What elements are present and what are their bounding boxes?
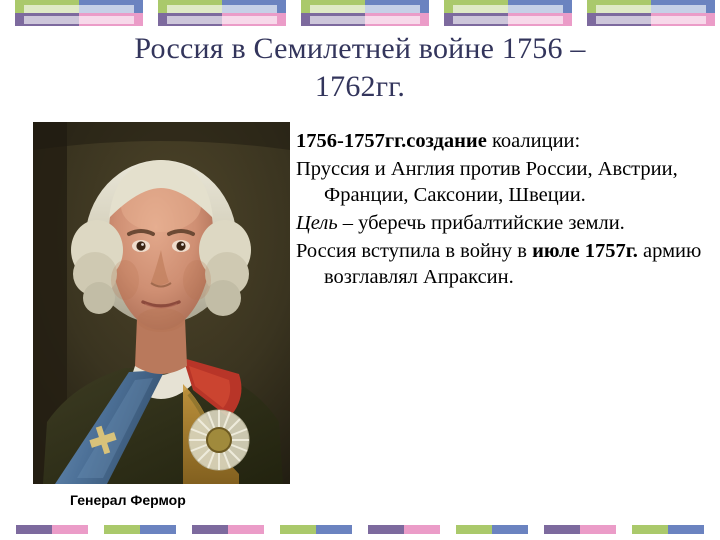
paragraph-alliances: Пруссия и Англия против России, Австрии,… (296, 156, 706, 208)
decor-dash-green-blue (280, 525, 352, 534)
decor-dash-green-blue (456, 525, 528, 534)
portrait-caption: Генерал Фермор (70, 492, 186, 508)
decor-tile (587, 0, 715, 26)
italic-goal-label: Цель (296, 212, 338, 234)
decor-dash-green-blue (632, 525, 704, 534)
goal-rest: – уберечь прибалтийские земли. (338, 212, 625, 234)
decor-tile (158, 0, 286, 26)
portrait-artwork (33, 122, 290, 484)
decor-tile (15, 0, 143, 26)
decorative-band-top (0, 0, 720, 30)
decor-inner-bar (167, 16, 277, 24)
bold-date-july-1757: июле 1757г. (532, 240, 638, 262)
entry-lead: Россия вступила в войну в (296, 240, 532, 262)
paragraph-coalition: 1756-1757гг.создание коалиции: (296, 128, 706, 154)
decor-tile (444, 0, 572, 26)
paragraph-entry: Россия вступила в войну в июле 1757г. ар… (296, 238, 706, 290)
decor-inner-bar (310, 5, 420, 13)
portrait-general-fermor (33, 122, 290, 484)
title-line-1: Россия в Семилетней войне 1756 – (28, 30, 692, 68)
paragraph-goal: Цель – уберечь прибалтийские земли. (296, 210, 706, 236)
decor-tile (301, 0, 429, 26)
decor-inner-bar (167, 5, 277, 13)
decor-inner-bar (24, 5, 134, 13)
decor-dash-green-blue (104, 525, 176, 534)
decor-inner-bar (596, 16, 706, 24)
decor-dash-purple-pink (544, 525, 616, 534)
decor-inner-bar (24, 16, 134, 24)
decorative-band-bottom (0, 525, 720, 534)
decor-inner-bar (453, 16, 563, 24)
slide: Россия в Семилетней войне 1756 – 1762гг. (0, 0, 720, 540)
bold-date-1756-1757: 1756-1757гг.создание (296, 130, 487, 152)
decor-inner-bar (310, 16, 420, 24)
coalition-rest: коалиции: (487, 130, 580, 152)
decor-dash-purple-pink (192, 525, 264, 534)
title-line-2: 1762гг. (28, 68, 692, 106)
decor-dash-purple-pink (368, 525, 440, 534)
slide-title: Россия в Семилетней войне 1756 – 1762гг. (28, 30, 692, 106)
decor-inner-bar (596, 5, 706, 13)
body-text-block: 1756-1757гг.создание коалиции: Пруссия и… (296, 128, 706, 292)
decor-dash-purple-pink (16, 525, 88, 534)
decor-inner-bar (453, 5, 563, 13)
